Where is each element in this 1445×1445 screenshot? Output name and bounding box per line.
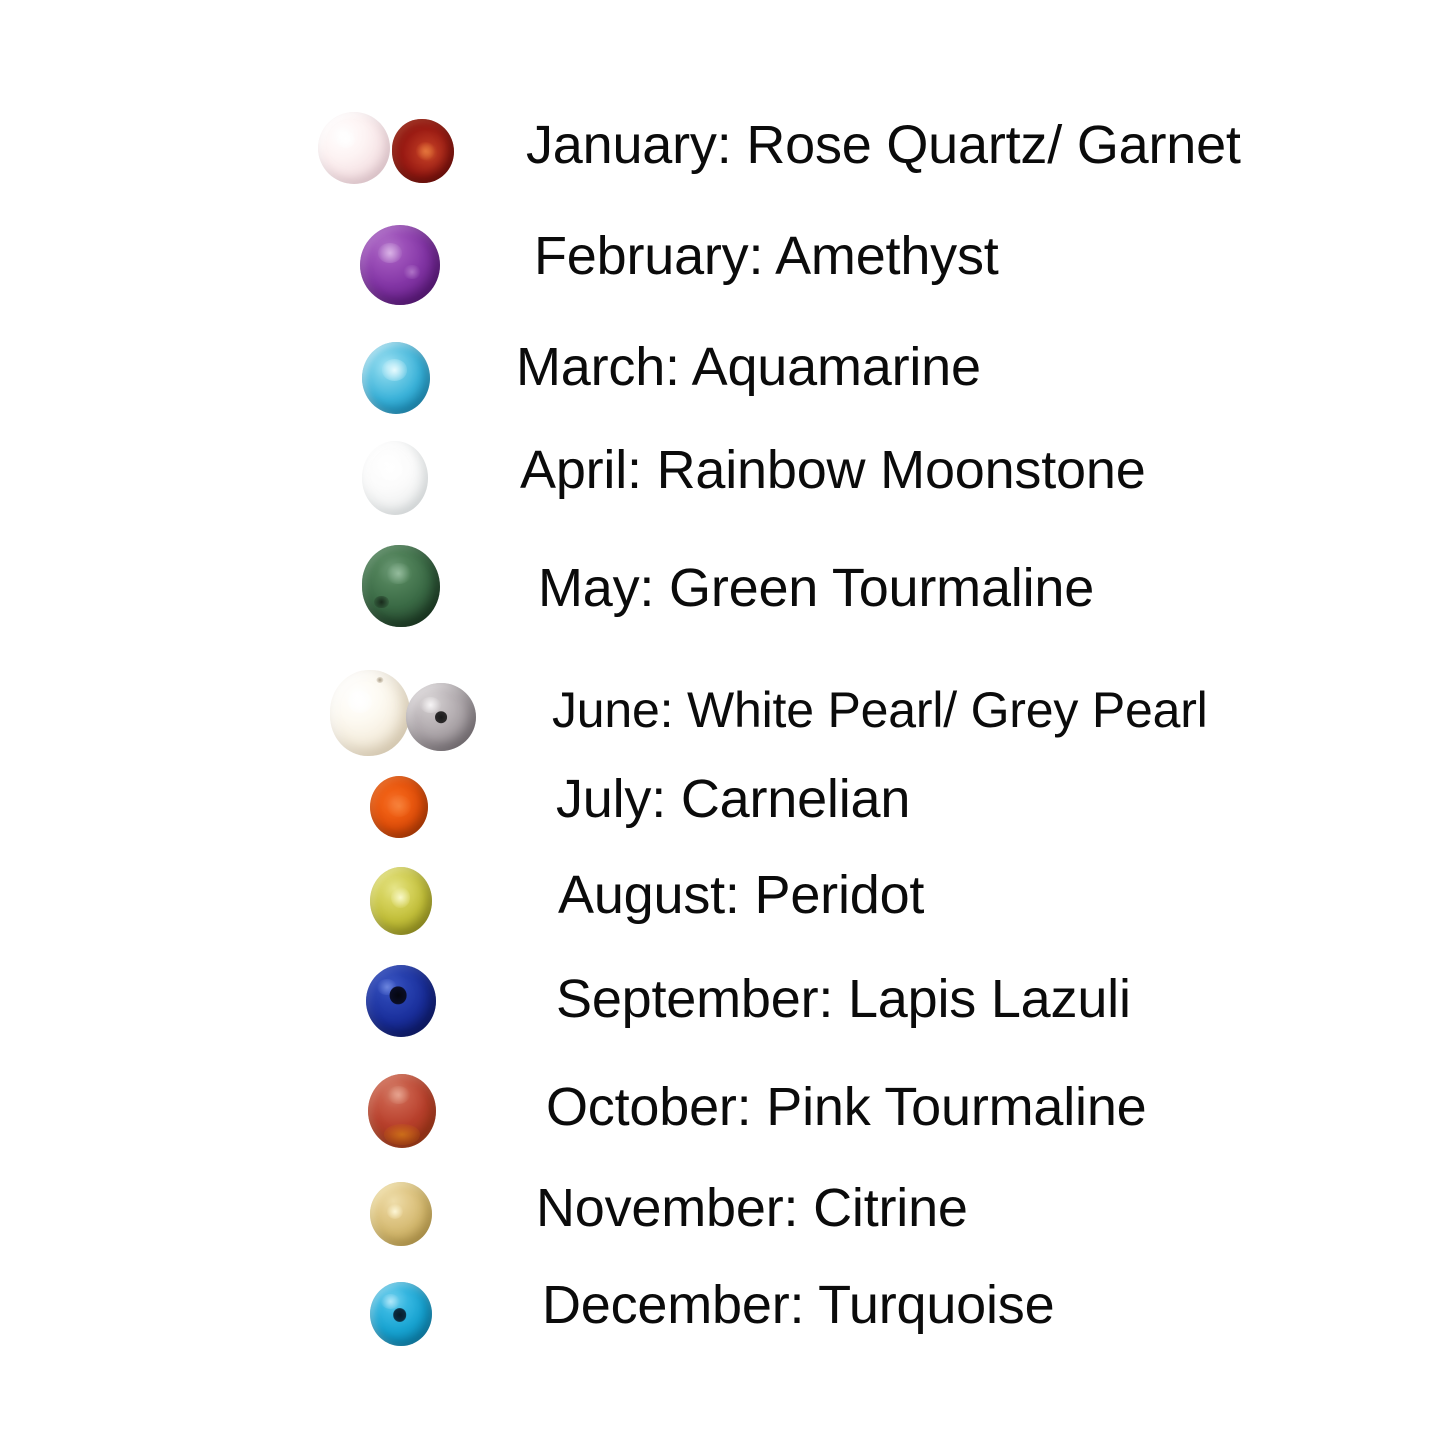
bead-highlight bbox=[391, 887, 410, 907]
rainbow-moonstone-bead bbox=[362, 441, 428, 515]
bead-highlight bbox=[378, 243, 402, 264]
birthstone-chart-page: January: Rose Quartz/ Garnet February: A… bbox=[0, 0, 1445, 1445]
row-label-june: June: White Pearl/ Grey Pearl bbox=[552, 685, 1208, 735]
bead-group-may bbox=[362, 542, 452, 630]
bead-highlight bbox=[385, 563, 412, 584]
bead-group-december bbox=[370, 1278, 446, 1350]
row-label-february: February: Amethyst bbox=[534, 229, 999, 283]
bead-group-october bbox=[368, 1072, 448, 1150]
lapis-lazuli-bead bbox=[366, 965, 436, 1037]
bead-highlight bbox=[387, 795, 410, 817]
row-label-may: May: Green Tourmaline bbox=[538, 561, 1094, 615]
turquoise-bead bbox=[370, 1282, 432, 1346]
rose-quartz-bead bbox=[318, 112, 390, 184]
bead-drill-hole bbox=[390, 987, 407, 1004]
bead-group-january bbox=[318, 108, 458, 188]
row-label-march: March: Aquamarine bbox=[516, 340, 981, 394]
grey-pearl-bead bbox=[406, 683, 476, 751]
bead-group-april bbox=[362, 438, 442, 518]
bead-drill-hole bbox=[435, 711, 447, 723]
bead-group-june bbox=[330, 668, 490, 758]
bead-highlight bbox=[387, 1086, 410, 1104]
bead-group-july bbox=[370, 772, 442, 842]
row-label-september: September: Lapis Lazuli bbox=[556, 972, 1131, 1026]
garnet-bead bbox=[392, 119, 454, 183]
row-label-december: December: Turquoise bbox=[542, 1278, 1054, 1332]
bead-inclusion bbox=[374, 596, 388, 608]
white-pearl-bead bbox=[330, 670, 410, 756]
aquamarine-bead bbox=[362, 342, 430, 414]
pink-tourmaline-bead bbox=[368, 1074, 436, 1148]
row-label-august: August: Peridot bbox=[558, 868, 924, 922]
peridot-bead bbox=[370, 867, 432, 935]
row-label-january: January: Rose Quartz/ Garnet bbox=[526, 118, 1241, 172]
row-label-october: October: Pink Tourmaline bbox=[546, 1080, 1147, 1134]
citrine-bead bbox=[370, 1182, 432, 1246]
carnelian-bead bbox=[370, 776, 428, 838]
bead-group-february bbox=[360, 222, 446, 308]
amethyst-bead bbox=[360, 225, 440, 305]
bead-highlight bbox=[337, 131, 356, 148]
bead-group-september bbox=[366, 962, 446, 1040]
bead-group-august bbox=[370, 864, 446, 938]
green-tourmaline-bead bbox=[362, 545, 440, 627]
bead-highlight bbox=[380, 459, 402, 481]
bead-group-november bbox=[370, 1178, 446, 1250]
bead-highlight bbox=[416, 142, 436, 160]
row-label-november: November: Citrine bbox=[536, 1181, 968, 1235]
bead-drill-hole bbox=[376, 677, 383, 683]
row-label-april: April: Rainbow Moonstone bbox=[520, 443, 1146, 497]
bead-lower-glow bbox=[384, 1124, 419, 1145]
bead-highlight bbox=[387, 1204, 403, 1219]
bead-drill-hole bbox=[393, 1308, 407, 1322]
row-label-july: July: Carnelian bbox=[556, 772, 910, 826]
bead-highlight bbox=[420, 697, 441, 713]
bead-highlight bbox=[381, 1294, 400, 1309]
bead-highlight bbox=[382, 359, 406, 381]
bead-highlight bbox=[348, 691, 372, 713]
bead-secondary-highlight bbox=[403, 265, 421, 279]
bead-group-march bbox=[362, 340, 442, 416]
